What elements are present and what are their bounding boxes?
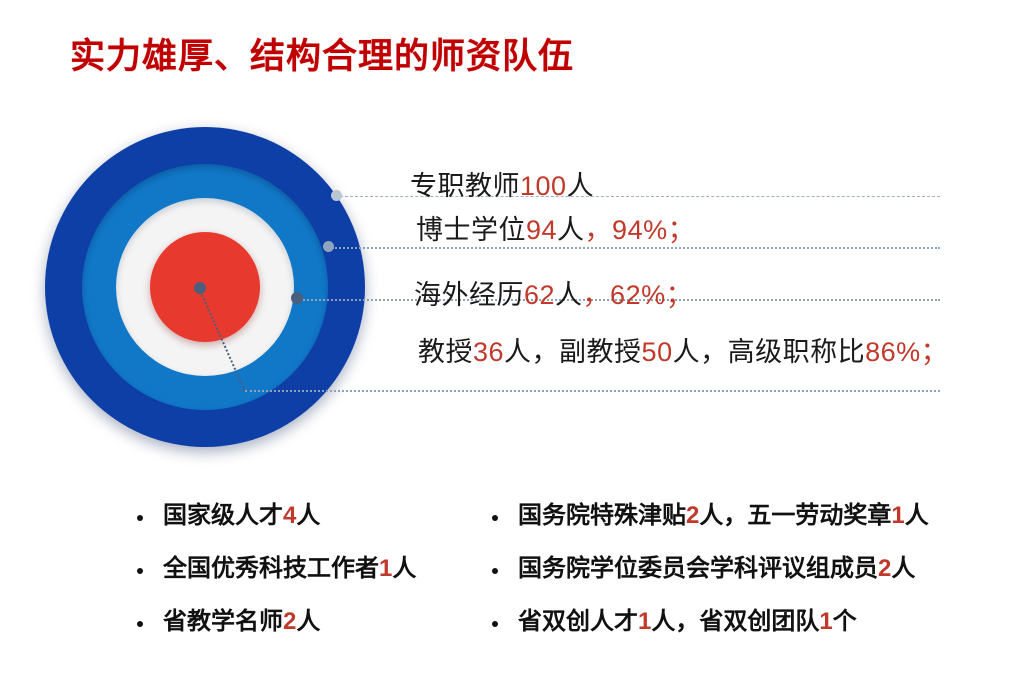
page-title: 实力雄厚、结构合理的师资队伍 [70,28,574,79]
bullet-right-3-prefix: 省双创人才 [518,608,638,635]
callout-2-semicolon: ； [668,215,696,245]
bullet-dot-icon [492,515,498,521]
list-item: 省双创人才1人，省双创团队1个 [492,606,929,659]
bullet-left-3-prefix: 省教学名师 [163,608,283,635]
bullet-right-1-suffix: 人，五一劳动奖章 [699,502,891,529]
callout-4-tail2: ，高级职称比 [700,337,865,367]
bullet-left-3-suffix: 人 [296,608,320,635]
bullet-right-1-number: 2 [686,502,699,529]
callout-1-suffix: 人 [567,171,595,201]
bullet-right-1-prefix: 国务院特殊津贴 [518,502,686,529]
bullet-dot-icon [492,568,498,574]
callout-2-suffix: 人 [557,215,585,245]
slide-canvas: 实力雄厚、结构合理的师资队伍 专职教师100人 博士学位94人，94%； 海外经… [0,0,1020,676]
list-item: 省教学名师2人 [137,606,416,659]
bullet-left-3: 省教学名师2人 [163,606,320,638]
bullet-dot-icon [492,621,498,627]
callout-4-semicolon: ； [921,337,949,367]
bullet-left-3-number: 2 [283,608,296,635]
leader-line-4 [245,390,940,392]
callout-4-number2: 50 [642,337,673,367]
bullet-left-2: 全国优秀科技工作者1人 [163,553,416,585]
bullet-right-2: 国务院学位委员会学科评议组成员2人 [518,553,915,585]
bullet-column-left: 国家级人才4人 全国优秀科技工作者1人 省教学名师2人 [137,500,416,659]
bullet-left-1: 国家级人才4人 [163,500,320,532]
callout-doctorate: 博士学位94人，94%； [416,208,695,247]
leader-line-2 [332,247,940,249]
bullet-left-1-prefix: 国家级人才 [163,502,283,529]
connector-dot-2 [323,241,334,252]
bullet-right-1: 国务院特殊津贴2人，五一劳动奖章1人 [518,500,929,532]
callout-4-suffix2: 人 [673,337,701,367]
bullet-right-2-suffix: 人 [891,555,915,582]
bullet-dot-icon [137,621,143,627]
bullet-right-3-suffix2: 个 [833,608,857,635]
callout-2-tail: ， [585,215,613,245]
bullet-dot-icon [137,568,143,574]
bullet-right-3-suffix: 人，省双创团队 [651,608,819,635]
bullet-column-right: 国务院特殊津贴2人，五一劳动奖章1人 国务院学位委员会学科评议组成员2人 省双创… [492,500,929,659]
callout-2-number: 94 [526,215,557,245]
callout-3-percent: 62% [610,280,666,310]
connector-dot-3 [291,292,303,304]
callout-2-percent: 94% [612,215,668,245]
list-item: 国务院学位委员会学科评议组成员2人 [492,553,929,606]
bullet-right-3: 省双创人才1人，省双创团队1个 [518,606,857,638]
callout-1-number: 100 [520,171,567,201]
callout-3-semicolon: ； [666,280,694,310]
callout-3-number: 62 [524,280,555,310]
callout-4-suffix: 人 [504,337,532,367]
bullet-right-1-number2: 1 [891,502,904,529]
bullet-left-1-suffix: 人 [296,502,320,529]
connector-dot-1 [331,190,342,201]
callout-1-prefix: 专职教师 [410,171,520,201]
bullet-left-2-number: 1 [379,555,392,582]
bullet-right-3-number2: 1 [819,608,832,635]
callout-2-prefix: 博士学位 [416,215,526,245]
bullet-right-2-number: 2 [878,555,891,582]
callout-4-tail: ，副教授 [532,337,642,367]
callout-4-number: 36 [473,337,504,367]
bullet-left-2-prefix: 全国优秀科技工作者 [163,555,379,582]
callout-4-prefix: 教授 [418,337,473,367]
callout-full-time-teachers: 专职教师100人 [410,164,594,203]
bullet-right-2-prefix: 国务院学位委员会学科评议组成员 [518,555,878,582]
callout-3-prefix: 海外经历 [414,280,524,310]
bullet-left-2-suffix: 人 [392,555,416,582]
connector-dot-center [194,282,206,294]
bullet-right-1-suffix2: 人 [905,502,929,529]
bullet-lists: 国家级人才4人 全国优秀科技工作者1人 省教学名师2人 国务院特殊津贴2人，五一… [0,500,1020,670]
bullet-dot-icon [137,515,143,521]
list-item: 国务院特殊津贴2人，五一劳动奖章1人 [492,500,929,553]
callout-overseas: 海外经历62人，62%； [414,273,693,312]
bullet-left-1-number: 4 [283,502,296,529]
callout-professors: 教授36人，副教授50人，高级职称比86%； [418,330,948,369]
bullet-right-3-number: 1 [638,608,651,635]
list-item: 全国优秀科技工作者1人 [137,553,416,606]
callout-3-suffix: 人 [555,280,583,310]
callout-3-tail: ， [583,280,611,310]
callout-4-percent: 86% [865,337,921,367]
list-item: 国家级人才4人 [137,500,416,553]
